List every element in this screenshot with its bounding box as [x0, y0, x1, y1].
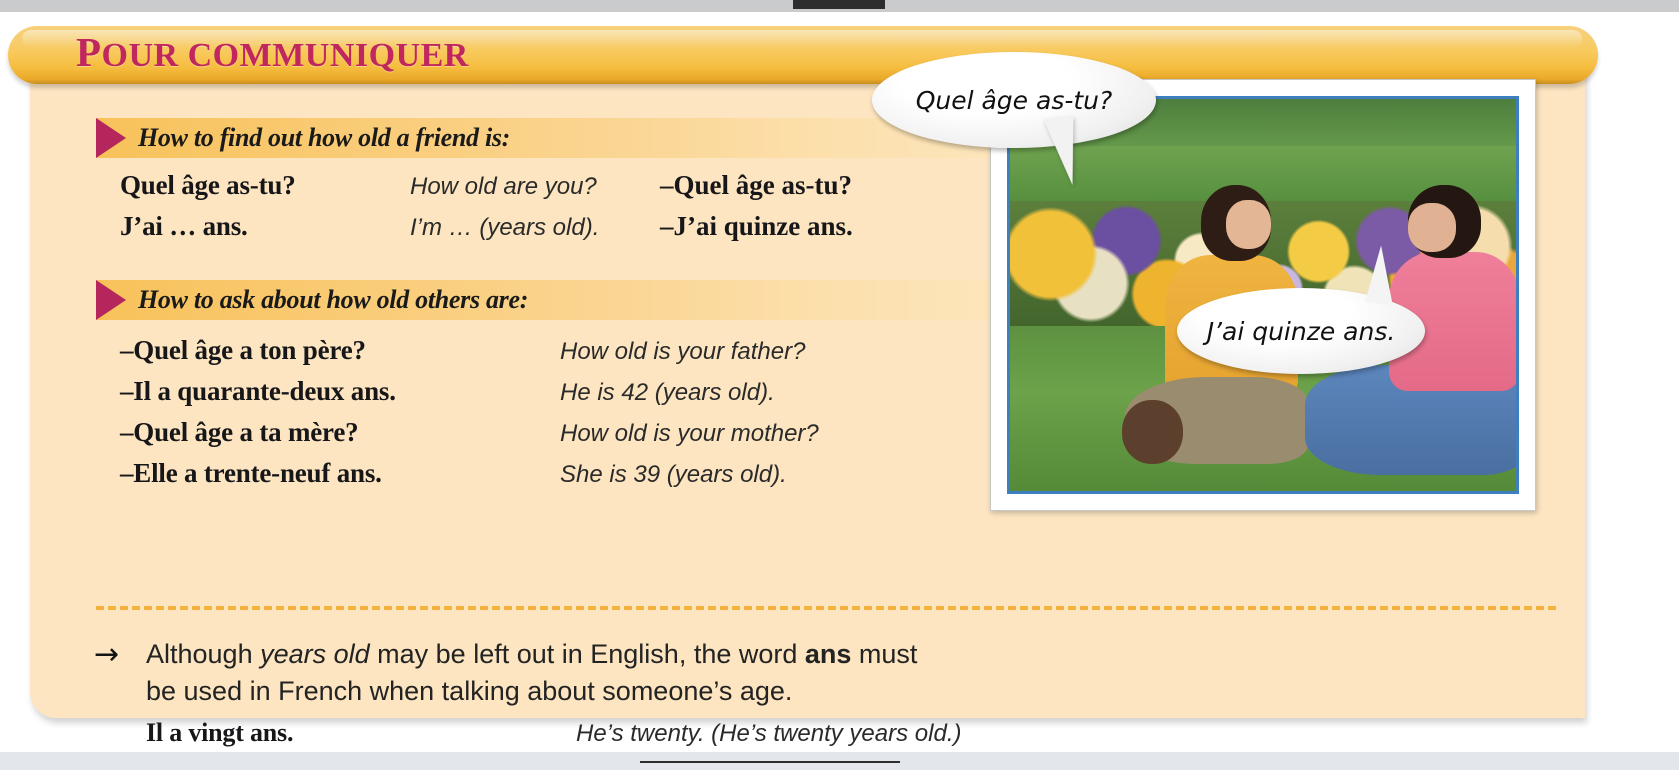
phrase-row: Quel âge as-tu? How old are you? –Quel â… [120, 170, 853, 211]
phrase-english: How old is your mother? [560, 420, 920, 448]
example-english: He’s twenty. (He’s twenty years old.) [576, 720, 961, 748]
phrase-french: J’ai … ans. [120, 211, 410, 242]
photo-girl-left-face [1226, 200, 1272, 249]
note-seg-2: may be left out in English, the word [370, 639, 805, 669]
speech-bubble-answer: J’ai quinze ans. [1177, 288, 1425, 374]
usage-note-text: Although years old may be left out in En… [146, 636, 1194, 710]
speech-bubble-answer-text: J’ai quinze ans. [1207, 317, 1396, 346]
note-seg-1: Although [146, 639, 260, 669]
example-french: Il a vingt ans. [146, 718, 576, 748]
page-top-marker [793, 0, 885, 9]
photo-girl-right-face [1408, 203, 1457, 252]
phrase-list-1: Quel âge as-tu? How old are you? –Quel â… [120, 170, 853, 252]
speech-bubble-question: Quel âge as-tu? [872, 52, 1156, 148]
phrase-english: He is 42 (years old). [560, 379, 920, 407]
phrase-french: –Quel âge a ton père? [120, 335, 560, 366]
note-seg-italic: years old [260, 639, 370, 669]
phrase-english: How old are you? [410, 173, 660, 201]
phrase-row: –Il a quarante-deux ans. He is 42 (years… [120, 376, 920, 417]
phrase-row: –Quel âge a ton père? How old is your fa… [120, 335, 920, 376]
note-seg-3: must [851, 639, 917, 669]
page-bottom-marker [640, 761, 900, 770]
dashed-divider [96, 606, 1556, 610]
speech-bubble-question-text: Quel âge as-tu? [916, 86, 1113, 115]
phrase-dialogue: –J’ai quinze ans. [660, 211, 853, 242]
page-title-rest: OUR COMMUNIQUER [102, 37, 469, 74]
section-heading-label-1: How to find out how old a friend is: [138, 123, 510, 153]
phrase-row: –Elle a trente-neuf ans. She is 39 (year… [120, 458, 920, 499]
phrase-list-2: –Quel âge a ton père? How old is your fa… [120, 335, 920, 499]
photo-girl-left-shoe [1122, 400, 1183, 464]
page-title-dropcap: P [76, 29, 102, 75]
triangle-bullet-icon [96, 280, 126, 320]
phrase-english: How old is your father? [560, 338, 920, 366]
phrase-english: I’m … (years old). [410, 214, 660, 242]
usage-note-example: Il a vingt ans. He’s twenty. (He’s twent… [146, 718, 1194, 748]
note-seg-bold: ans [805, 639, 852, 669]
section-heading-label-2: How to ask about how old others are: [138, 285, 528, 315]
phrase-dialogue: –Quel âge as-tu? [660, 170, 852, 201]
arrow-right-icon: → [94, 640, 119, 670]
triangle-bullet-icon [96, 118, 126, 158]
phrase-french: Quel âge as-tu? [120, 170, 410, 201]
phrase-french: –Elle a trente-neuf ans. [120, 458, 560, 489]
speech-bubble-question-tail [1044, 117, 1081, 188]
phrase-row: J’ai … ans. I’m … (years old). –J’ai qui… [120, 211, 853, 252]
section-heading-bar-1: How to find out how old a friend is: [96, 118, 1020, 158]
phrase-row: –Quel âge a ta mère? How old is your mot… [120, 417, 920, 458]
section-heading-bar-2: How to ask about how old others are: [96, 280, 1020, 320]
phrase-french: –Il a quarante-deux ans. [120, 376, 560, 407]
phrase-english: She is 39 (years old). [560, 461, 920, 489]
phrase-french: –Quel âge a ta mère? [120, 417, 560, 448]
page-title: POUR COMMUNIQUER [76, 28, 469, 76]
usage-note: → Although years old may be left out in … [94, 636, 1194, 748]
note-seg-line2: be used in French when talking about som… [146, 676, 792, 706]
